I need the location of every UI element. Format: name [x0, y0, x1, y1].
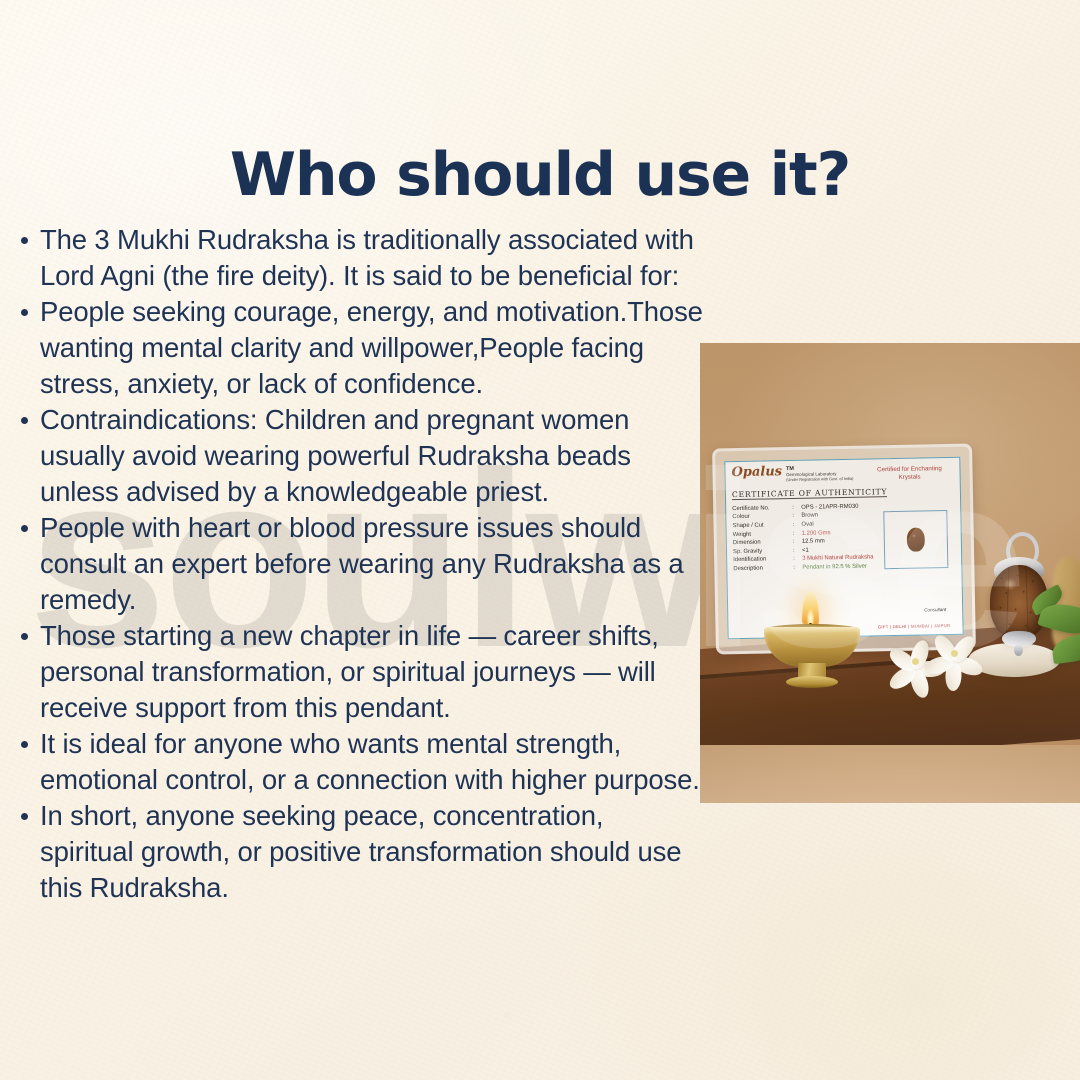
row-value: Pendant in 92.5 % Silver [802, 562, 885, 572]
poster-canvas: soulwise Who should use it? The 3 Mukhi … [0, 0, 1080, 1080]
row-separator: : [792, 512, 801, 521]
lab-brand-name: Opalus [731, 466, 782, 478]
certificate-card: Opalus TM Gemmological Laboratory (Under… [724, 457, 963, 639]
consultant-signature-label: Consultant [924, 607, 946, 612]
flower-center [951, 650, 958, 657]
rudraksha-bead-thumbnail-icon [907, 527, 925, 551]
certified-for-label: Certified for Enchanting Krystals [866, 465, 952, 483]
photo-floor [700, 745, 1080, 803]
list-item: In short, anyone seeking peace, concentr… [14, 798, 704, 906]
list-item: Those starting a new chapter in life — c… [14, 618, 704, 726]
list-item: People with heart or blood pressure issu… [14, 510, 704, 618]
table-row: Description : Pendant in 92.5 % Silver [733, 562, 885, 574]
row-separator: : [793, 555, 802, 564]
diya-foot [786, 676, 838, 688]
list-item: The 3 Mukhi Rudraksha is traditionally a… [14, 222, 704, 294]
product-photo: Opalus TM Gemmological Laboratory (Under… [700, 343, 1080, 803]
row-separator: : [793, 538, 802, 547]
certificate-detail-rows: Certificate No. : OPS - 21APR-RM030 Colo… [732, 502, 885, 574]
row-key: Description [733, 564, 793, 574]
flower-center [912, 658, 919, 665]
lab-registration-note: (Under Registration with Govt. of India) [786, 476, 853, 483]
list-item: People seeking courage, energy, and moti… [14, 294, 704, 402]
row-separator: : [793, 547, 802, 556]
benefits-bullet-list: The 3 Mukhi Rudraksha is traditionally a… [14, 222, 704, 906]
certificate-footer-cities: GIFT | DELHI | MUMBAI | JAIPUR [878, 623, 951, 629]
page-title: Who should use it? [0, 140, 1080, 210]
row-separator: : [793, 564, 802, 573]
list-item: Contraindications: Children and pregnant… [14, 402, 704, 510]
row-separator: : [792, 504, 801, 513]
row-separator: : [793, 529, 802, 538]
row-separator: : [792, 521, 801, 530]
certificate-case: Opalus TM Gemmological Laboratory (Under… [712, 444, 976, 655]
pendant-silver-drop [1014, 644, 1023, 656]
certificate-title: CERTIFICATE OF AUTHENTICITY [732, 487, 888, 500]
certificate-bead-photo-box [883, 510, 948, 569]
list-item: It is ideal for anyone who wants mental … [14, 726, 704, 798]
